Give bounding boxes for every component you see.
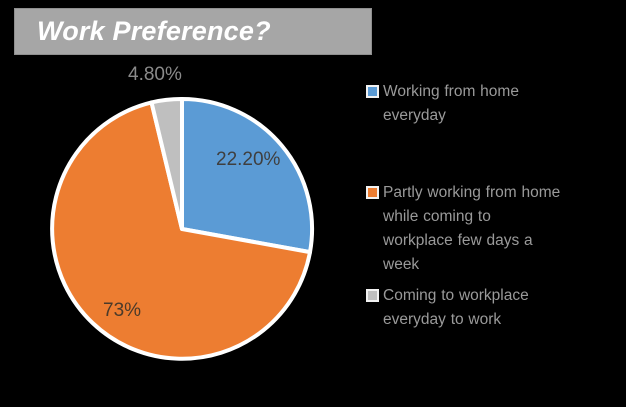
pie-chart bbox=[38, 85, 328, 375]
pie-data-label-gray: 4.80% bbox=[128, 64, 182, 86]
pie-chart-svg bbox=[38, 85, 328, 375]
pie-slice-working-from-home-everyday[interactable] bbox=[182, 99, 312, 252]
legend-swatch-blue-icon bbox=[366, 85, 379, 98]
legend-label-working-from-home-everyday: Working from home everyday bbox=[383, 80, 561, 128]
legend-item-partly-working-from-home[interactable]: Partly working from home while coming to… bbox=[366, 181, 561, 277]
legend-swatch-gray-icon bbox=[366, 289, 379, 302]
legend-item-coming-to-workplace-everyday[interactable]: Coming to workplace everyday to work bbox=[366, 284, 561, 332]
pie-data-label-orange: 73% bbox=[103, 300, 141, 322]
chart-title-text: Work Preference? bbox=[15, 16, 271, 47]
legend-label-coming-to-workplace-everyday: Coming to workplace everyday to work bbox=[383, 284, 561, 332]
legend-item-working-from-home-everyday[interactable]: Working from home everyday bbox=[366, 80, 561, 128]
chart-title-box: Work Preference? bbox=[14, 8, 372, 55]
pie-data-label-blue: 22.20% bbox=[216, 149, 280, 171]
chart-canvas: Work Preference? 4.80% 22.20% 73% Workin… bbox=[0, 0, 626, 407]
legend-swatch-orange-icon bbox=[366, 186, 379, 199]
legend-label-partly-working-from-home: Partly working from home while coming to… bbox=[383, 181, 561, 277]
